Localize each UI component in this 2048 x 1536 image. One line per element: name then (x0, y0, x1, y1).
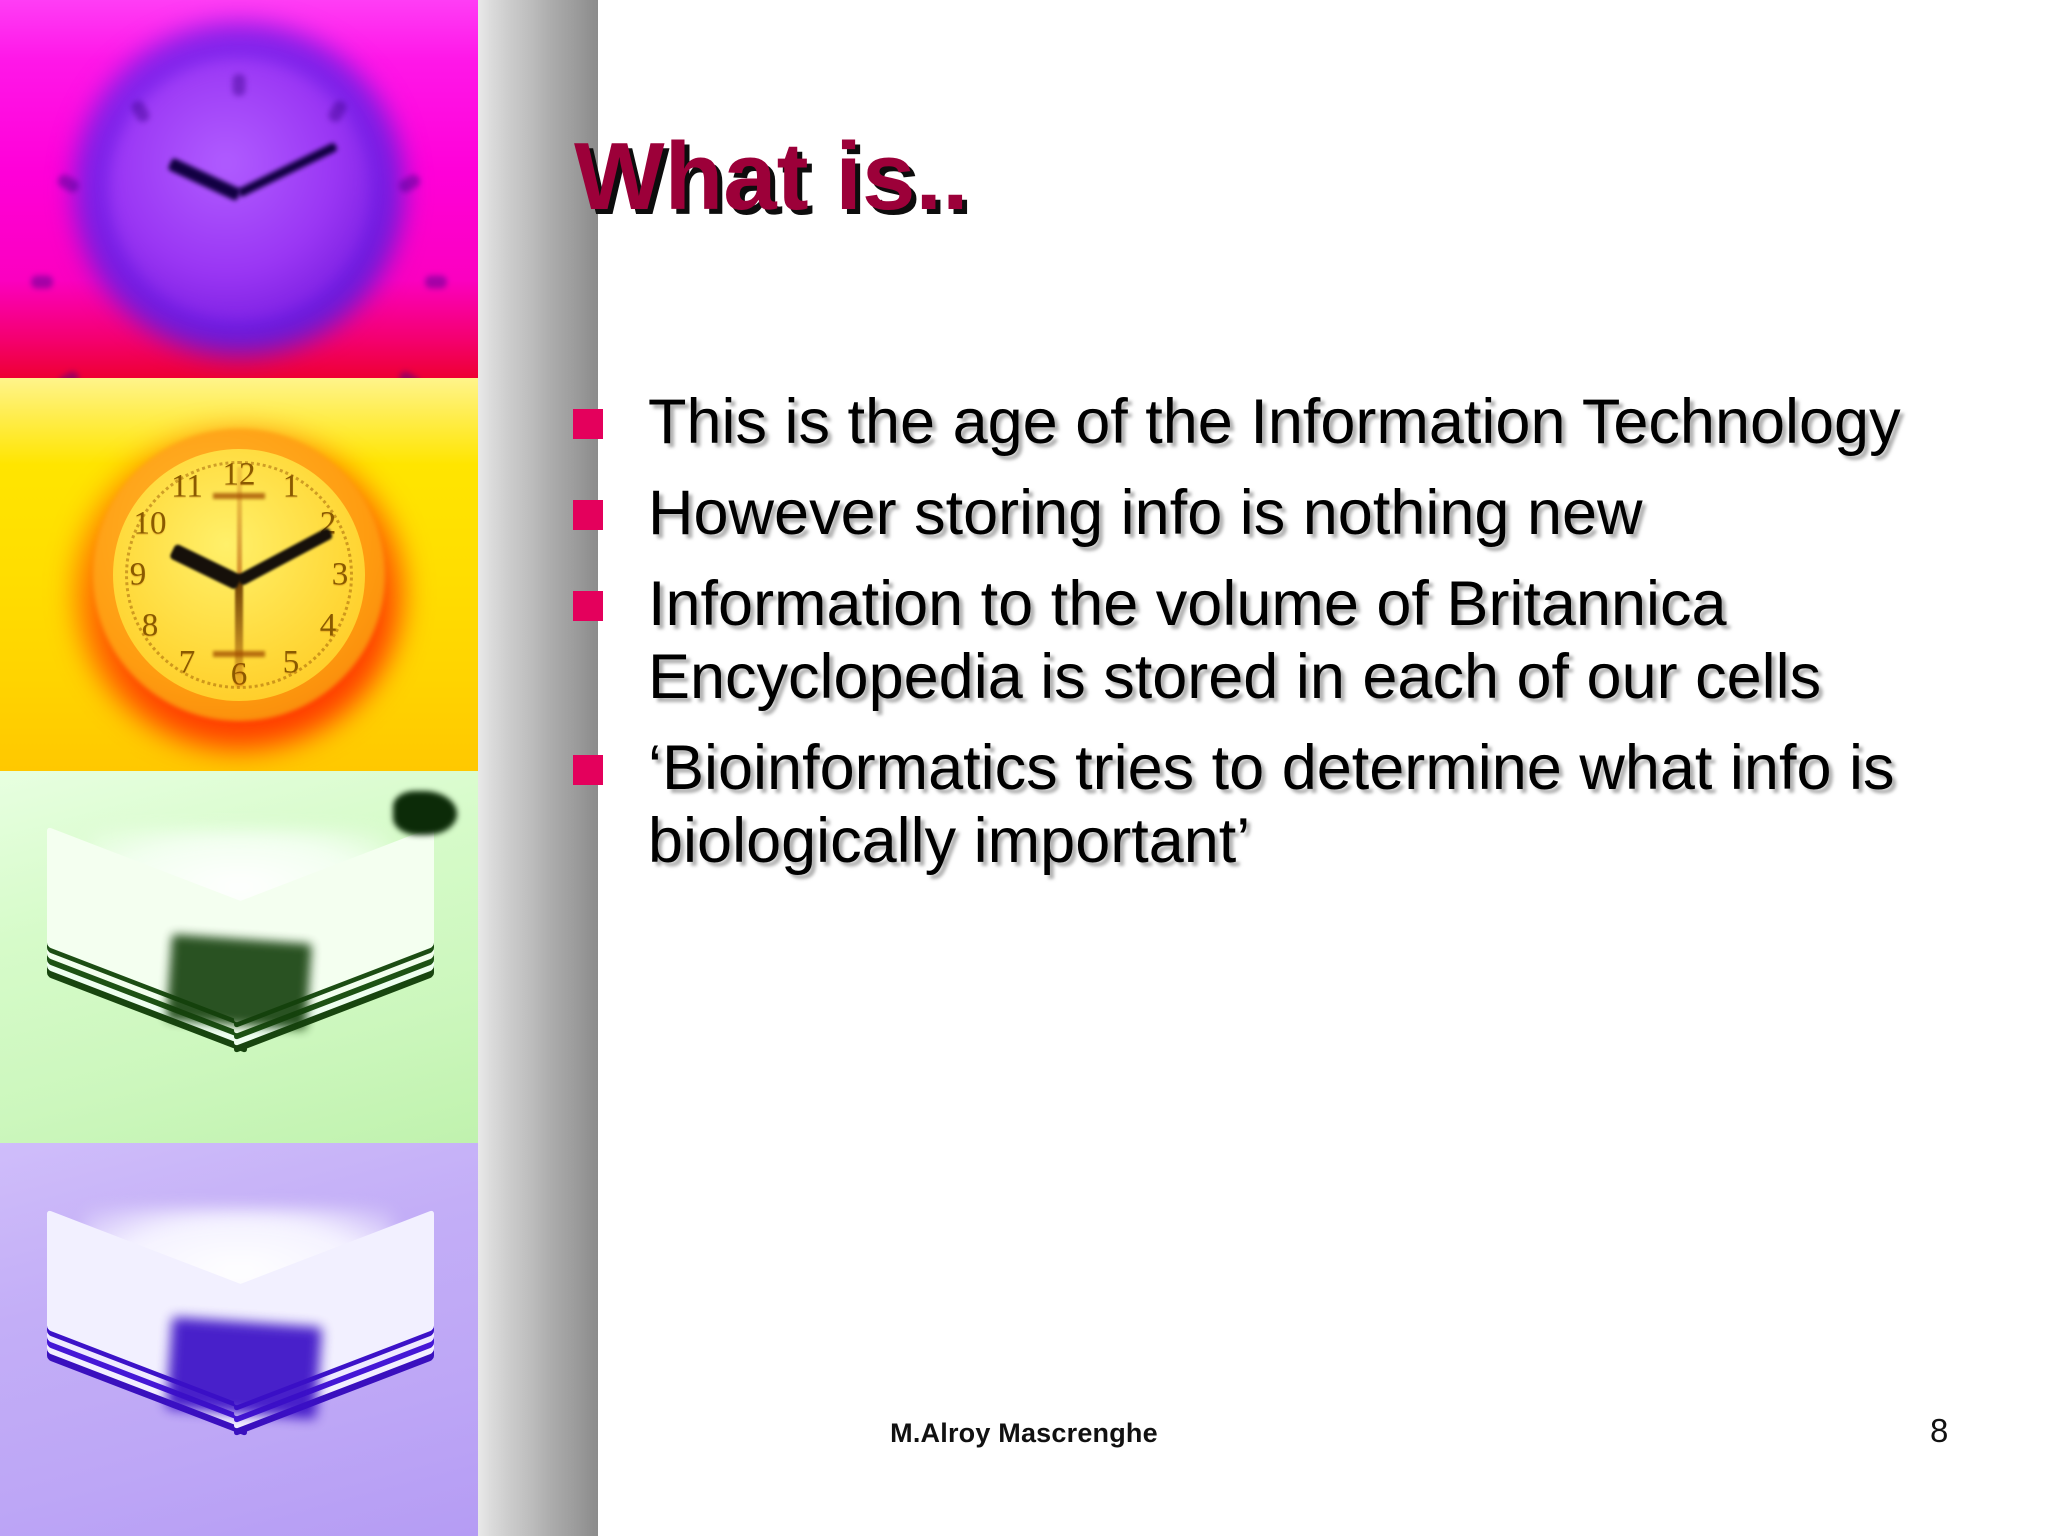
footer-author: M.Alroy Mascrenghe (0, 1418, 2048, 1449)
list-item: However storing info is nothing new (573, 477, 1973, 550)
page-number: 8 (1930, 1412, 1948, 1450)
square-bullet-icon (573, 755, 603, 785)
list-item: Information to the volume of Britannica … (573, 568, 1973, 714)
bullet-text: However storing info is nothing new (648, 477, 1973, 550)
bullet-text: This is the age of the Information Techn… (648, 386, 1973, 459)
square-bullet-icon (573, 409, 603, 439)
bullet-list: This is the age of the Information Techn… (573, 386, 1973, 896)
square-bullet-icon (573, 500, 603, 530)
list-item: This is the age of the Information Techn… (573, 386, 1973, 459)
slide-content: What is.. This is the age of the Informa… (0, 0, 2048, 1536)
bullet-text: Information to the volume of Britannica … (648, 568, 1973, 714)
page-title: What is.. (574, 122, 969, 232)
square-bullet-icon (573, 591, 603, 621)
bullet-text: ‘Bioinformatics tries to determine what … (648, 732, 1973, 878)
list-item: ‘Bioinformatics tries to determine what … (573, 732, 1973, 878)
presentation-slide: 12 1 2 3 4 5 6 7 8 9 10 11 (0, 0, 2048, 1536)
